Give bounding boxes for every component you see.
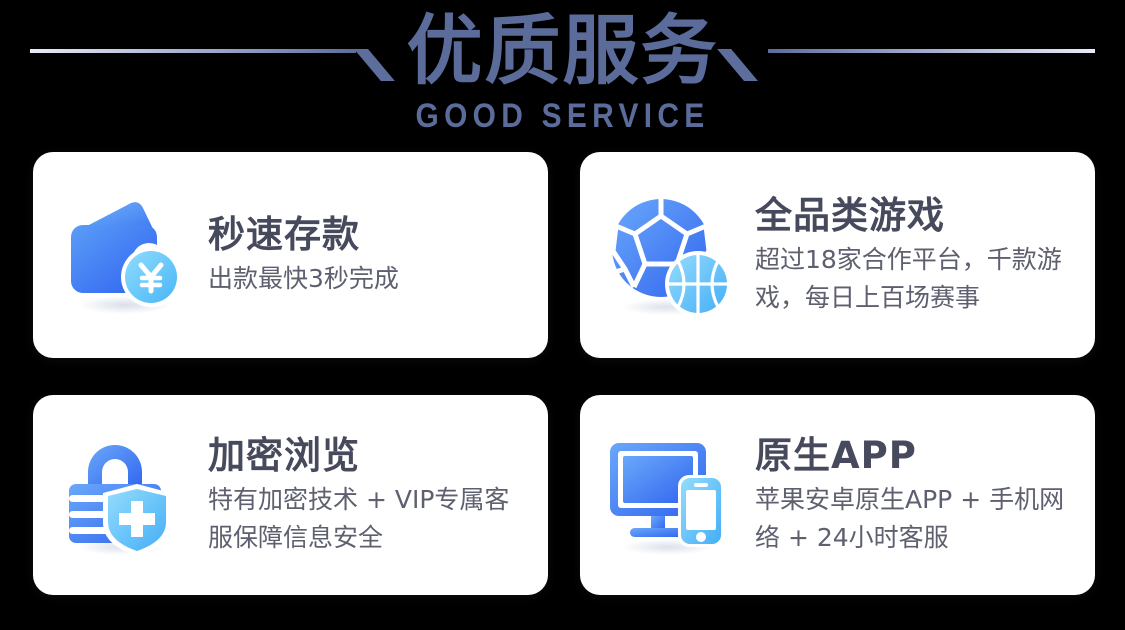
card-title: 全品类游戏 <box>755 193 1079 239</box>
monitor-phone-icon <box>580 395 755 595</box>
wallet-icon <box>33 152 208 358</box>
soccer-basketball-icon <box>580 152 755 358</box>
card-title: 加密浏览 <box>208 433 532 479</box>
page-title: 优质服务 <box>0 6 1125 96</box>
card-description: 超过18家合作平台，千款游戏，每日上百场赛事 <box>755 241 1079 317</box>
feature-card-native-app[interactable]: 原生APP 苹果安卓原生APP + 手机网络 + 24小时客服 <box>580 395 1095 595</box>
card-title: 原生APP <box>755 433 1079 479</box>
feature-card-games[interactable]: 全品类游戏 超过18家合作平台，千款游戏，每日上百场赛事 <box>580 152 1095 358</box>
card-description: 苹果安卓原生APP + 手机网络 + 24小时客服 <box>755 481 1079 557</box>
card-description: 出款最快3秒完成 <box>208 260 532 298</box>
feature-card-deposit[interactable]: 秒速存款 出款最快3秒完成 <box>33 152 548 358</box>
card-description: 特有加密技术 + VIP专属客服保障信息安全 <box>208 481 532 557</box>
feature-card-encryption[interactable]: 加密浏览 特有加密技术 + VIP专属客服保障信息安全 <box>33 395 548 595</box>
page-header: 优质服务 GOOD SERVICE <box>0 0 1125 150</box>
feature-card-grid: 秒速存款 出款最快3秒完成 <box>33 152 1095 595</box>
lock-shield-icon <box>33 395 208 595</box>
card-title: 秒速存款 <box>208 212 532 258</box>
page-subtitle: GOOD SERVICE <box>68 96 1058 136</box>
